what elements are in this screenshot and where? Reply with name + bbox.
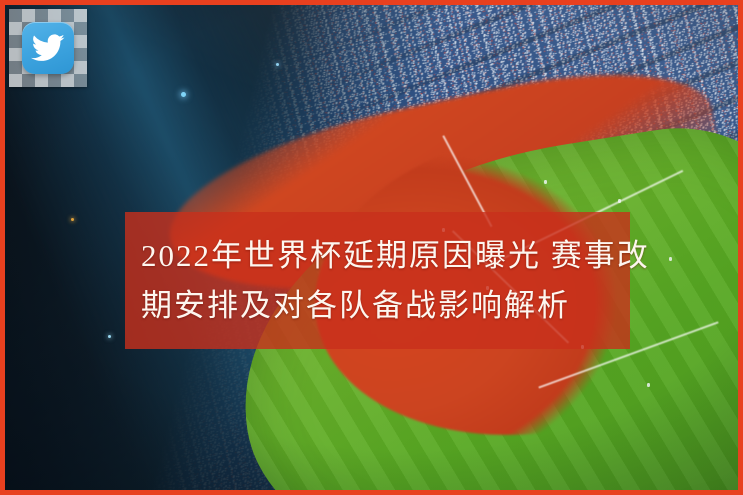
- article-title-line-2: 期安排及对各队备战影响解析: [141, 281, 614, 331]
- article-banner-image: 2022年世界杯延期原因曝光 赛事改 期安排及对各队备战影响解析: [0, 0, 743, 495]
- twitter-bird-icon: [31, 31, 65, 65]
- article-title-overlay: 2022年世界杯延期原因曝光 赛事改 期安排及对各队备战影响解析: [125, 212, 630, 349]
- twitter-share-badge[interactable]: [9, 9, 87, 87]
- twitter-icon-tile[interactable]: [22, 22, 74, 74]
- article-title-line-1: 2022年世界杯延期原因曝光 赛事改: [141, 231, 614, 281]
